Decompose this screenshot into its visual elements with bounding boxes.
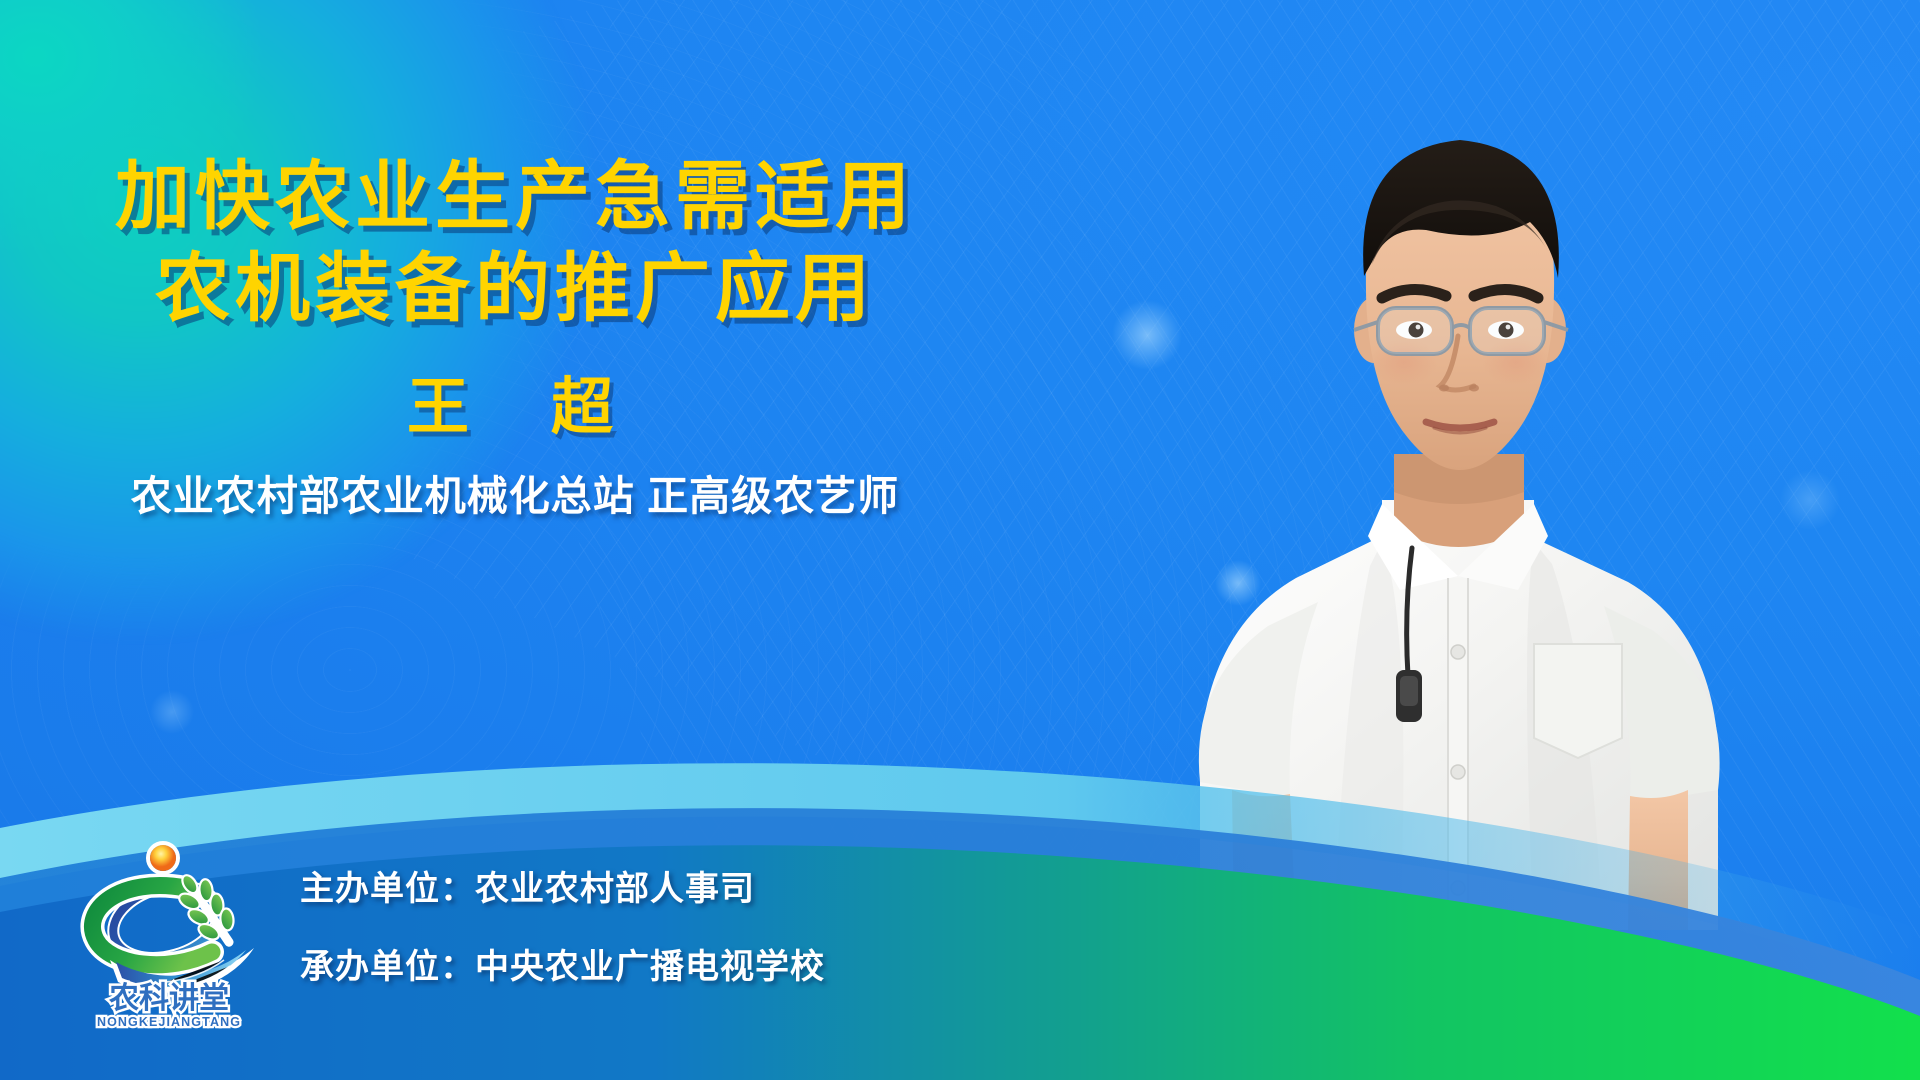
speaker-affiliation-title: 农业农村部农业机械化总站 正高级农艺师 bbox=[0, 468, 1030, 524]
footer-wave-band bbox=[0, 650, 1920, 1080]
lecture-title-line-2: 农机装备的推广应用 bbox=[0, 242, 1030, 334]
logo-name-cn-fill: 农科讲堂 bbox=[108, 982, 229, 1015]
host-organization-line: 主办单位：农业农村部人事司 bbox=[300, 850, 825, 928]
lecture-title-line-1: 加快农业生产急需适用 bbox=[0, 150, 1030, 242]
speaker-name: 王 超 bbox=[0, 370, 1030, 446]
program-logo: 农科讲堂 农科讲堂 NONGKEJIANGTANG NONGKEJIANGTAN… bbox=[62, 836, 277, 1036]
headline-block: 加快农业生产急需适用 农机装备的推广应用 王 超 农业农村部农业机械化总站 正高… bbox=[0, 150, 1030, 524]
lecture-title-slide: 加快农业生产急需适用 农机装备的推广应用 王 超 农业农村部农业机械化总站 正高… bbox=[0, 0, 1920, 1080]
organizer-organization-line: 承办单位：中央农业广播电视学校 bbox=[300, 928, 825, 1006]
logo-name-pinyin: NONGKEJIANGTANG bbox=[97, 1015, 241, 1029]
credits-block: 主办单位：农业农村部人事司 承办单位：中央农业广播电视学校 bbox=[300, 850, 825, 1006]
